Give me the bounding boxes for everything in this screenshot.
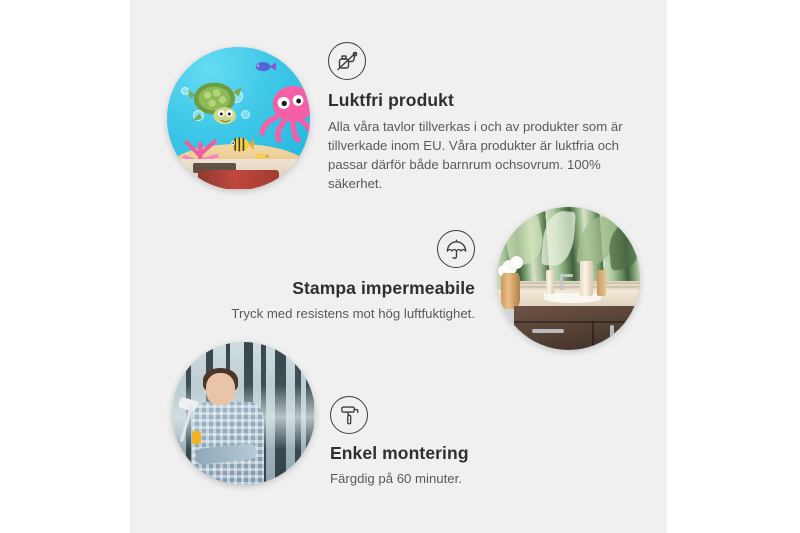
soap-bottle — [546, 270, 555, 294]
feature-title: Luktfri produkt — [328, 90, 628, 111]
feature-title: Enkel montering — [330, 443, 590, 464]
blue-fish-illustration — [253, 58, 276, 75]
underwater-kids-poster-photo — [167, 47, 310, 190]
cabinet-seam — [592, 321, 594, 350]
feature-description: Alla våra tavlor tillverkas i och av pro… — [328, 117, 628, 193]
feature-easy-mounting: Enkel montering Färgdig på 60 minuter. — [300, 396, 590, 488]
turtle-illustration — [187, 78, 244, 129]
feature-showcase-page: Luktfri produkt Alla våra tavlor tillver… — [0, 0, 800, 533]
cabinet-seam — [514, 321, 640, 323]
drawer-handle — [532, 329, 565, 333]
feature-waterproof-print: Stampa impermeabile Tryck med resistens … — [185, 230, 475, 323]
no-odor-perfume-icon — [328, 42, 366, 80]
lotion-bottle — [580, 261, 593, 295]
feature-description: Tryck med resistens mot hög luftfuktighe… — [185, 304, 475, 323]
sink-basin — [544, 293, 601, 303]
feature-title: Stampa impermeabile — [185, 278, 475, 299]
paint-roller-icon — [330, 396, 368, 434]
door-handle — [610, 325, 614, 340]
yellow-fish-illustration — [228, 133, 254, 156]
flower-bloom — [510, 256, 523, 269]
octopus-illustration — [256, 81, 310, 144]
woman-paint-roller-forest-mural-photo — [172, 342, 315, 485]
umbrella-icon — [437, 230, 475, 268]
wood-cup — [597, 270, 606, 296]
roller-grip — [192, 431, 201, 444]
vanity-cabinet — [514, 306, 640, 350]
face — [206, 373, 235, 404]
bathroom-tropical-wallpaper-photo — [497, 207, 640, 350]
feature-description: Färgdig på 60 minuter. — [330, 469, 590, 488]
feature-odor-free: Luktfri produkt Alla våra tavlor tillver… — [328, 42, 628, 193]
crib-bedding — [198, 170, 278, 189]
leaf-shape — [541, 210, 576, 267]
gold-vase — [501, 273, 520, 309]
